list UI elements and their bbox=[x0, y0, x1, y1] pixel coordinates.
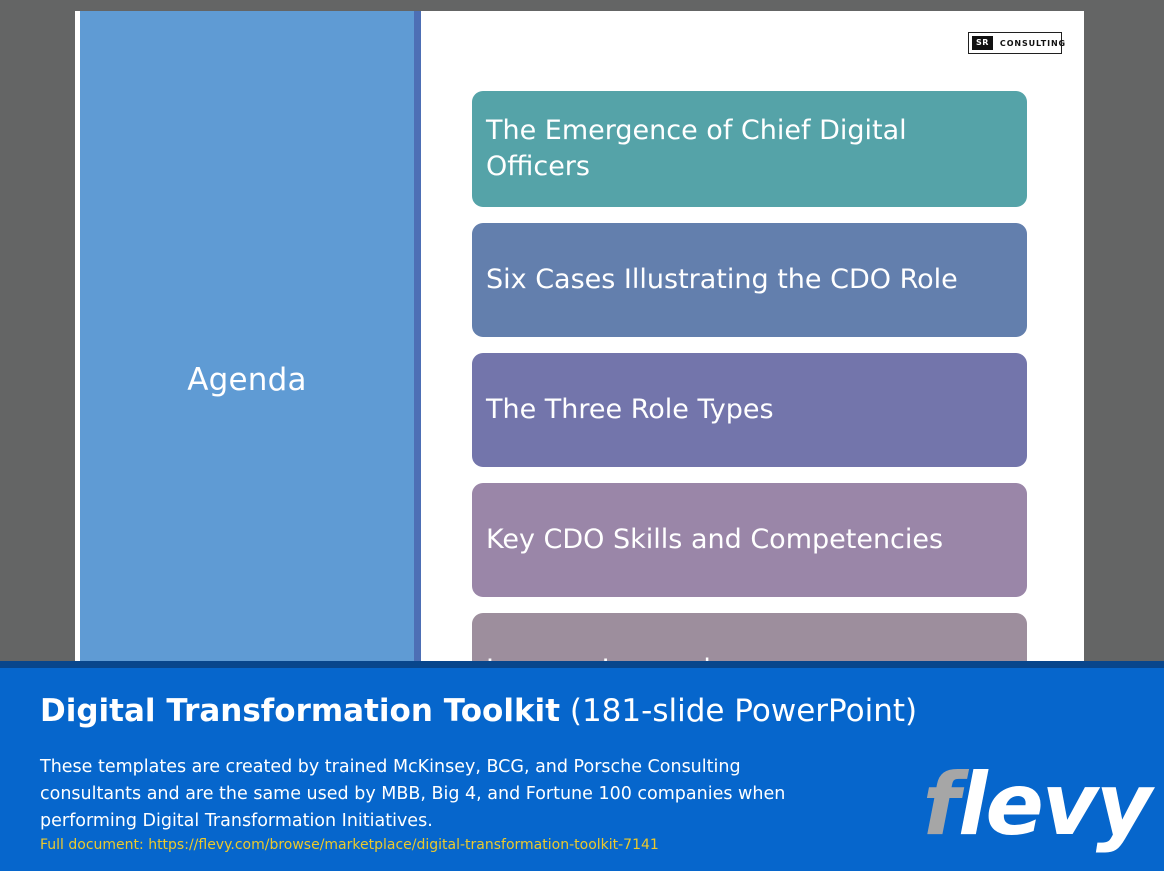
agenda-card[interactable]: Six Cases Illustrating the CDO Role bbox=[472, 223, 1027, 337]
agenda-card-label: The Emergence of Chief Digital Officers bbox=[486, 113, 1013, 184]
agenda-card[interactable]: The Emergence of Chief Digital Officers bbox=[472, 91, 1027, 207]
flevy-logo-f: f bbox=[923, 755, 958, 855]
agenda-card-label: Lessons Learned bbox=[486, 652, 711, 661]
slide-preview: Agenda SR CONSULTING The Emergence of Ch… bbox=[75, 11, 1084, 661]
agenda-card-label: Six Cases Illustrating the CDO Role bbox=[486, 262, 958, 298]
agenda-card[interactable]: The Three Role Types bbox=[472, 353, 1027, 467]
flevy-logo: flevy bbox=[923, 762, 1150, 848]
flevy-logo-rest: levy bbox=[958, 755, 1150, 855]
promo-document-link[interactable]: Full document: https://flevy.com/browse/… bbox=[40, 838, 659, 852]
sr-consulting-logo: SR CONSULTING bbox=[968, 32, 1062, 54]
agenda-card-label: The Three Role Types bbox=[486, 392, 774, 428]
agenda-card-list: The Emergence of Chief Digital Officers … bbox=[472, 91, 1027, 661]
agenda-panel bbox=[80, 11, 414, 661]
agenda-card[interactable]: Lessons Learned bbox=[472, 613, 1027, 661]
sr-consulting-logo-mark: SR bbox=[972, 36, 993, 50]
agenda-card[interactable]: Key CDO Skills and Competencies bbox=[472, 483, 1027, 597]
agenda-panel-title: Agenda bbox=[80, 363, 414, 397]
agenda-panel-accent-bar bbox=[414, 11, 421, 661]
promo-title: Digital Transformation Toolkit (181-slid… bbox=[40, 696, 917, 727]
promo-description: These templates are created by trained M… bbox=[40, 754, 810, 835]
promo-title-main: Digital Transformation Toolkit bbox=[40, 693, 560, 729]
sr-consulting-logo-word: CONSULTING bbox=[1000, 39, 1066, 48]
agenda-card-label: Key CDO Skills and Competencies bbox=[486, 522, 943, 558]
promo-title-subtitle: (181-slide PowerPoint) bbox=[560, 693, 917, 729]
